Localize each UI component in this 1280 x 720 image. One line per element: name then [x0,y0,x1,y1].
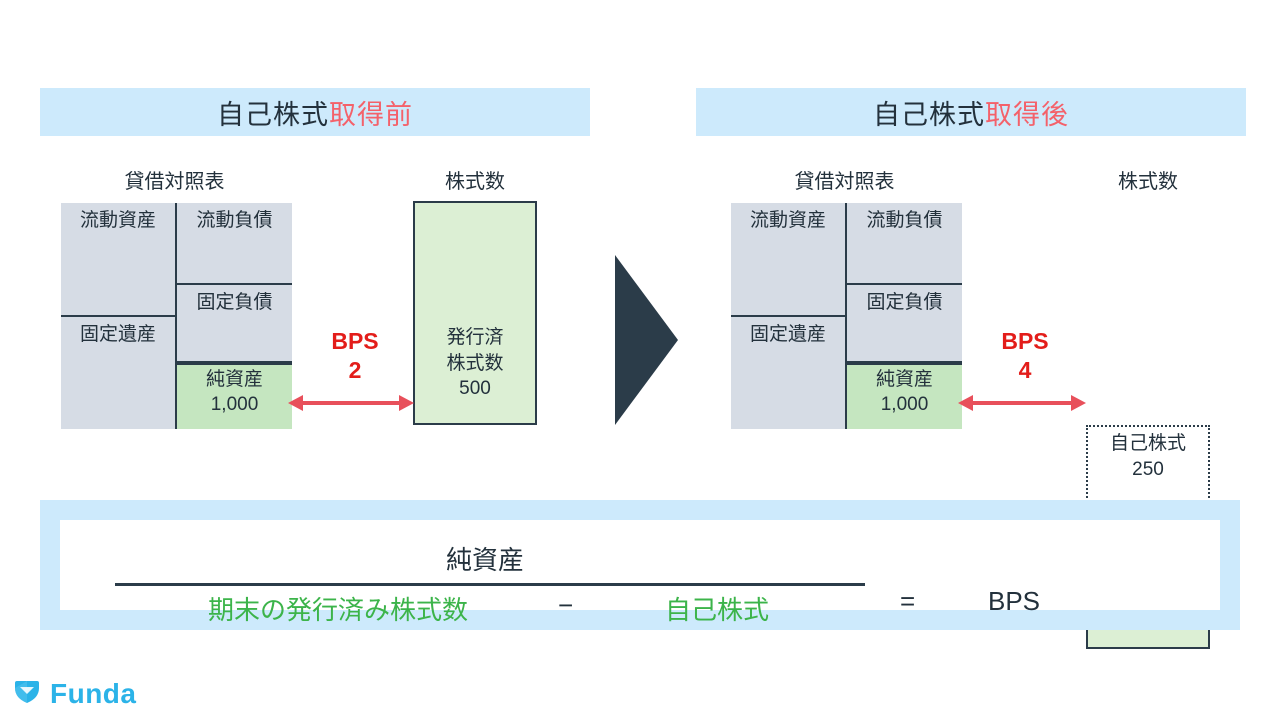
before-issued-value: 500 [415,376,535,402]
after-title-main: 自己株式 [873,93,985,132]
after-bs-equity: 純資産 1,000 [847,363,962,429]
before-balance-sheet: 流動資産 固定遺産 流動負債 固定負債 純資産 1,000 [61,203,288,425]
formula-numerator: 純資産 [115,540,855,577]
after-bps-value: 4 [975,356,1075,385]
formula-result: BPS [988,586,1040,617]
after-treasury-value: 250 [1088,457,1208,483]
before-bps-arrow-svg [288,392,414,414]
formula-panel: 純資産 期末の発行済み株式数 − 自己株式 = BPS [40,500,1240,630]
before-title-main: 自己株式 [217,93,329,132]
before-bs-equity: 純資産 1,000 [177,363,292,429]
before-bs-current-assets: 流動資産 [61,203,177,317]
after-title-accent: 取得後 [985,93,1069,132]
after-bps-label: BPS 4 [975,327,1075,385]
funda-gem-icon-svg [12,676,42,706]
before-bs-caption: 貸借対照表 [61,165,288,194]
before-issued-line1: 発行済 [415,325,535,351]
before-bs-equity-label: 純資産 [177,368,292,393]
after-bs-equity-value: 1,000 [847,393,962,418]
before-title-banner: 自己株式取得前 [40,88,590,136]
formula-denominator-left: 期末の発行済み株式数 [208,590,468,627]
after-bps-title: BPS [975,327,1075,356]
before-bps-arrow [288,392,414,414]
before-title-accent: 取得前 [329,93,413,132]
before-shares-text: 発行済 株式数 500 [415,325,535,402]
funda-gem-icon [12,676,42,711]
after-bs-equity-label: 純資産 [847,368,962,393]
after-title-banner: 自己株式取得後 [696,88,1246,136]
after-bs-current-liabilities: 流動負債 [847,203,962,285]
after-balance-sheet: 流動資産 固定遺産 流動負債 固定負債 純資産 1,000 [731,203,958,425]
after-bps-arrow-svg [958,392,1086,414]
before-shares-caption: 株式数 [413,165,537,194]
before-bps-label: BPS 2 [305,327,405,385]
before-shares-box: 発行済 株式数 500 [413,201,537,425]
funda-wordmark: Funda [50,678,137,710]
formula-inner: 純資産 期末の発行済み株式数 − 自己株式 = BPS [60,520,1220,610]
before-issued-line2: 株式数 [415,351,535,377]
formula-fraction-bar [115,583,865,586]
process-arrow-icon [615,255,678,425]
after-bs-caption: 貸借対照表 [731,165,958,194]
before-bs-fixed-assets: 固定遺産 [61,317,177,429]
after-treasury-label: 自己株式 [1088,431,1208,457]
formula-equals: = [900,586,915,617]
after-bps-arrow [958,392,1086,414]
after-shares-caption: 株式数 [1086,165,1210,194]
footer-logo[interactable]: Funda [12,676,137,711]
after-bs-fixed-assets: 固定遺産 [731,317,847,429]
formula-denominator-right: 自己株式 [665,590,769,627]
after-bs-fixed-liabilities: 固定負債 [847,285,962,363]
before-bs-equity-value: 1,000 [177,393,292,418]
before-bs-current-liabilities: 流動負債 [177,203,292,285]
before-bps-title: BPS [305,327,405,356]
before-bps-value: 2 [305,356,405,385]
after-bs-current-assets: 流動資産 [731,203,847,317]
formula-operator: − [558,590,573,621]
before-bs-fixed-liabilities: 固定負債 [177,285,292,363]
